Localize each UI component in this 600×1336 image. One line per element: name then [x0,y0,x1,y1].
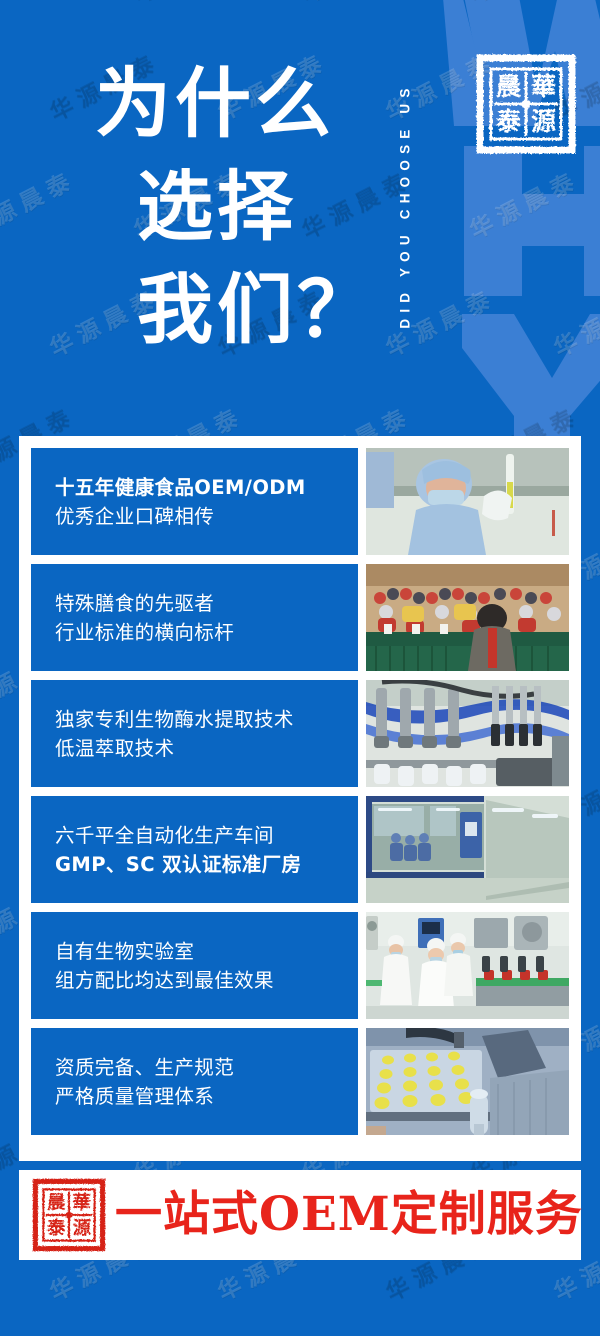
clean-room-corridor-window-image[interactable] [366,796,569,903]
feature-line: 行业标准的横向标杆 [55,618,358,647]
feature-line: 自有生物实验室 [55,937,358,966]
poster-header: 为什么 选择 我们？ DID YOU CHOOSE US [0,0,600,435]
feature-text-card[interactable]: 六千平全自动化生产车间GMP、SC 双认证标准厂房 [31,796,358,903]
title-line-3: 我们？ [95,258,385,361]
feature-line: GMP、SC 双认证标准厂房 [55,850,358,879]
feature-line: 严格质量管理体系 [55,1082,358,1111]
feature-line: 六千平全自动化生产车间 [55,821,358,850]
feature-line: 特殊膳食的先驱者 [55,589,358,618]
feature-row: 特殊膳食的先驱者行业标准的横向标杆 [31,564,569,671]
title-line-2: 选择 [95,155,385,258]
feature-line: 十五年健康食品OEM/ODM [55,473,358,502]
feature-line: 低温萃取技术 [55,734,358,763]
conference-audience-hall-image[interactable] [366,564,569,671]
features-panel: 十五年健康食品OEM/ODM优秀企业口碑相传 特殊膳食的先驱者行业标准的横向标杆 [19,436,581,1161]
svg-text:華: 華 [73,1191,91,1213]
feature-row: 自有生物实验室组方配比均达到最佳效果 [31,912,569,1019]
feature-row: 十五年健康食品OEM/ODM优秀企业口碑相传 [31,448,569,555]
feature-line: 独家专利生物酶水提取技术 [55,705,358,734]
svg-text:晨: 晨 [47,1192,66,1213]
svg-text:源: 源 [73,1217,92,1239]
brand-seal-red-icon: 晨 華 泰 源 [31,1177,107,1253]
feature-line: 优秀企业口碑相传 [55,502,358,531]
svg-text:泰: 泰 [496,107,522,136]
cta-text: 一站式OEM定制服务 [115,1189,583,1241]
page-title: 为什么 选择 我们？ [95,52,385,361]
svg-text:華: 華 [531,72,556,101]
poster-root: 华源晨泰华源晨泰华源晨泰华源晨泰华源晨泰华源晨泰华源晨泰华源晨泰华源晨泰华源晨泰… [0,0,600,1336]
feature-text-card[interactable]: 十五年健康食品OEM/ODM优秀企业口碑相传 [31,448,358,555]
brand-seal-icon: 晨 華 泰 源 [474,52,578,156]
svg-text:泰: 泰 [46,1217,66,1239]
vertical-english-subtitle: DID YOU CHOOSE US [392,8,418,403]
feature-text-card[interactable]: 独家专利生物酶水提取技术低温萃取技术 [31,680,358,787]
feature-line: 组方配比均达到最佳效果 [55,966,358,995]
vertical-english-text: DID YOU CHOOSE US [398,82,413,328]
svg-text:晨: 晨 [496,72,522,101]
feature-text-card[interactable]: 资质完备、生产规范严格质量管理体系 [31,1028,358,1135]
svg-text:源: 源 [531,107,556,136]
feature-row: 资质完备、生产规范严格质量管理体系 [31,1028,569,1135]
bottom-cta-banner: 晨 華 泰 源 一站式OEM定制服务 [19,1170,581,1260]
feature-row: 六千平全自动化生产车间GMP、SC 双认证标准厂房 [31,796,569,903]
bottling-filling-production-line-image[interactable] [366,680,569,787]
title-line-1: 为什么 [95,52,385,155]
feature-text-card[interactable]: 自有生物实验室组方配比均达到最佳效果 [31,912,358,1019]
workers-white-coats-packaging-line-image[interactable] [366,912,569,1019]
blister-packing-machine-tablets-image[interactable] [366,1028,569,1135]
feature-text-card[interactable]: 特殊膳食的先驱者行业标准的横向标杆 [31,564,358,671]
lab-technician-inspecting-vial-image[interactable] [366,448,569,555]
feature-line: 资质完备、生产规范 [55,1053,358,1082]
feature-row: 独家专利生物酶水提取技术低温萃取技术 [31,680,569,787]
